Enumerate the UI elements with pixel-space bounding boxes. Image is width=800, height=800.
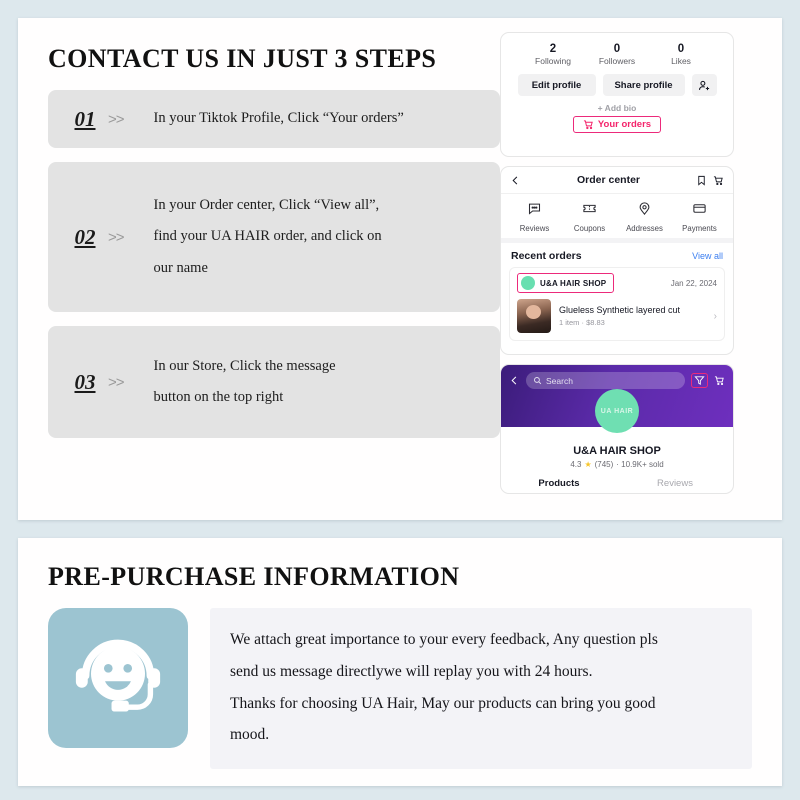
step-text-line: find your UA HAIR order, and click on xyxy=(154,221,382,252)
mockup-tiktok-profile: 2 Following 0 Followers 0 Likes Edit pro… xyxy=(500,32,734,157)
order-center-header: Order center xyxy=(501,167,733,194)
step-arrow-icon: >> xyxy=(108,229,124,246)
add-person-button[interactable] xyxy=(692,74,717,96)
stat-count: 0 xyxy=(585,42,649,56)
product-info: Glueless Synthetic layered cut 1 item · … xyxy=(559,305,706,328)
profile-stats: 2 Following 0 Followers 0 Likes xyxy=(501,33,733,69)
quick-action-reviews[interactable]: Reviews xyxy=(512,201,558,233)
step-number: 03 xyxy=(62,370,108,395)
store-avatar: UA HAIR xyxy=(595,389,639,433)
location-pin-icon xyxy=(637,201,652,216)
filter-button-highlight[interactable] xyxy=(691,373,708,388)
stat-label: Likes xyxy=(649,56,713,67)
search-input[interactable]: Search xyxy=(526,372,685,389)
step-number: 01 xyxy=(62,107,108,132)
add-bio-button[interactable]: + Add bio xyxy=(501,96,733,116)
store-rating-count: (745) xyxy=(595,460,614,469)
stat-count: 2 xyxy=(521,42,585,56)
your-orders-button[interactable]: Your orders xyxy=(573,116,661,133)
cart-icon[interactable] xyxy=(714,375,725,386)
mockup-store-page: Search UA HAIR U&A HAIR SHOP 4.3 xyxy=(500,364,734,494)
share-profile-button[interactable]: Share profile xyxy=(603,74,685,96)
store-rating-row: 4.3 ★ (745) · 10.9K+ sold xyxy=(501,460,733,469)
filter-icon xyxy=(694,375,705,386)
paragraph-line: send us message directlywe will replay y… xyxy=(230,656,732,688)
shop-name-highlight[interactable]: U&A HAIR SHOP xyxy=(517,273,614,293)
bookmark-icon[interactable] xyxy=(696,175,707,186)
search-placeholder: Search xyxy=(546,376,573,386)
step-text-line: In your Tiktok Profile, Click “Your orde… xyxy=(154,103,404,134)
order-shop-row: U&A HAIR SHOP Jan 22, 2024 xyxy=(510,268,724,296)
step-text-line: our name xyxy=(154,253,382,284)
page-root: CONTACT US IN JUST 3 STEPS 01 >> In your… xyxy=(0,0,800,800)
store-name: U&A HAIR SHOP xyxy=(501,445,733,457)
shop-avatar xyxy=(521,276,535,290)
product-thumbnail xyxy=(517,299,551,333)
step-text: In your Order center, Click “View all”, … xyxy=(154,190,382,284)
paragraph-line: mood. xyxy=(230,719,732,751)
ticket-icon xyxy=(582,201,597,216)
store-tabs: Products Reviews xyxy=(501,475,733,494)
step-item-02[interactable]: 02 >> In your Order center, Click “View … xyxy=(48,162,500,312)
your-orders-label: Your orders xyxy=(598,119,651,130)
quick-actions-row: Reviews Coupons Addresses xyxy=(501,194,733,243)
profile-action-row: Edit profile Share profile xyxy=(501,69,733,96)
quick-action-coupons[interactable]: Coupons xyxy=(567,201,613,233)
customer-service-headset-icon xyxy=(64,624,172,732)
cart-icon xyxy=(583,119,594,130)
order-card[interactable]: U&A HAIR SHOP Jan 22, 2024 Glueless Synt… xyxy=(509,267,725,341)
chevron-right-icon: › xyxy=(714,311,717,322)
order-center-title: Order center xyxy=(527,174,690,186)
step-text: In our Store, Click the message button o… xyxy=(154,351,336,413)
quick-action-label: Payments xyxy=(677,224,723,233)
product-title: Glueless Synthetic layered cut xyxy=(559,305,706,317)
quick-action-label: Reviews xyxy=(512,224,558,233)
pre-purchase-card: PRE-PURCHASE INFORMATION xyxy=(18,538,782,786)
store-sold-count: · 10.9K+ sold xyxy=(616,460,663,469)
cart-icon[interactable] xyxy=(713,175,724,186)
credit-card-icon xyxy=(692,201,707,216)
recent-orders-label: Recent orders xyxy=(511,250,582,262)
paragraph-line: We attach great importance to your every… xyxy=(230,624,732,656)
steps-card: CONTACT US IN JUST 3 STEPS 01 >> In your… xyxy=(18,18,782,520)
pre-purchase-paragraph: We attach great importance to your every… xyxy=(210,608,752,769)
step-text-line: In our Store, Click the message xyxy=(154,351,336,382)
your-orders-row: Your orders xyxy=(501,116,733,133)
chevron-left-icon[interactable] xyxy=(509,375,520,386)
step-arrow-icon: >> xyxy=(108,374,124,391)
step-number: 02 xyxy=(62,225,108,250)
search-icon xyxy=(533,376,542,385)
quick-action-label: Addresses xyxy=(622,224,668,233)
view-all-link[interactable]: View all xyxy=(692,251,723,261)
shop-name-label: U&A HAIR SHOP xyxy=(540,279,606,288)
stat-followers: 0 Followers xyxy=(585,42,649,67)
step-text-line: button on the top right xyxy=(154,382,336,413)
step-item-01[interactable]: 01 >> In your Tiktok Profile, Click “You… xyxy=(48,90,500,148)
speech-bubble-icon xyxy=(527,201,542,216)
store-banner: Search UA HAIR xyxy=(501,365,733,427)
product-subtitle: 1 item · $8.83 xyxy=(559,318,706,327)
add-person-icon xyxy=(698,79,711,92)
stat-likes: 0 Likes xyxy=(649,42,713,67)
pre-purchase-body: We attach great importance to your every… xyxy=(48,608,752,769)
step-item-03[interactable]: 03 >> In our Store, Click the message bu… xyxy=(48,326,500,438)
stat-label: Following xyxy=(521,56,585,67)
step-arrow-icon: >> xyxy=(108,111,124,128)
stat-label: Followers xyxy=(585,56,649,67)
recent-orders-header: Recent orders View all xyxy=(501,243,733,267)
pre-purchase-title: PRE-PURCHASE INFORMATION xyxy=(48,562,752,592)
order-date: Jan 22, 2024 xyxy=(671,279,717,288)
page-title: CONTACT US IN JUST 3 STEPS xyxy=(48,44,500,74)
quick-action-label: Coupons xyxy=(567,224,613,233)
customer-service-tile xyxy=(48,608,188,748)
pre-purchase-inner: PRE-PURCHASE INFORMATION xyxy=(18,538,782,769)
store-rating: 4.3 xyxy=(570,460,581,469)
mockup-order-center: Order center Reviews xyxy=(500,166,734,355)
stat-count: 0 xyxy=(649,42,713,56)
chevron-left-icon[interactable] xyxy=(510,175,521,186)
steps-column: CONTACT US IN JUST 3 STEPS 01 >> In your… xyxy=(18,18,500,520)
store-info: U&A HAIR SHOP 4.3 ★ (745) · 10.9K+ sold … xyxy=(501,427,733,494)
paragraph-line: Thanks for choosing UA Hair, May our pro… xyxy=(230,688,732,720)
quick-action-addresses[interactable]: Addresses xyxy=(622,201,668,233)
tab-reviews[interactable]: Reviews xyxy=(617,475,733,493)
star-icon: ★ xyxy=(584,460,591,469)
tab-products[interactable]: Products xyxy=(501,475,617,493)
mockups-column: 2 Following 0 Followers 0 Likes Edit pro… xyxy=(500,18,748,520)
order-item-row[interactable]: Glueless Synthetic layered cut 1 item · … xyxy=(510,296,724,340)
edit-profile-button[interactable]: Edit profile xyxy=(518,74,596,96)
step-text: In your Tiktok Profile, Click “Your orde… xyxy=(154,103,404,134)
store-top-bar: Search xyxy=(509,372,725,389)
quick-action-payments[interactable]: Payments xyxy=(677,201,723,233)
step-text-line: In your Order center, Click “View all”, xyxy=(154,190,382,221)
stat-following: 2 Following xyxy=(521,42,585,67)
